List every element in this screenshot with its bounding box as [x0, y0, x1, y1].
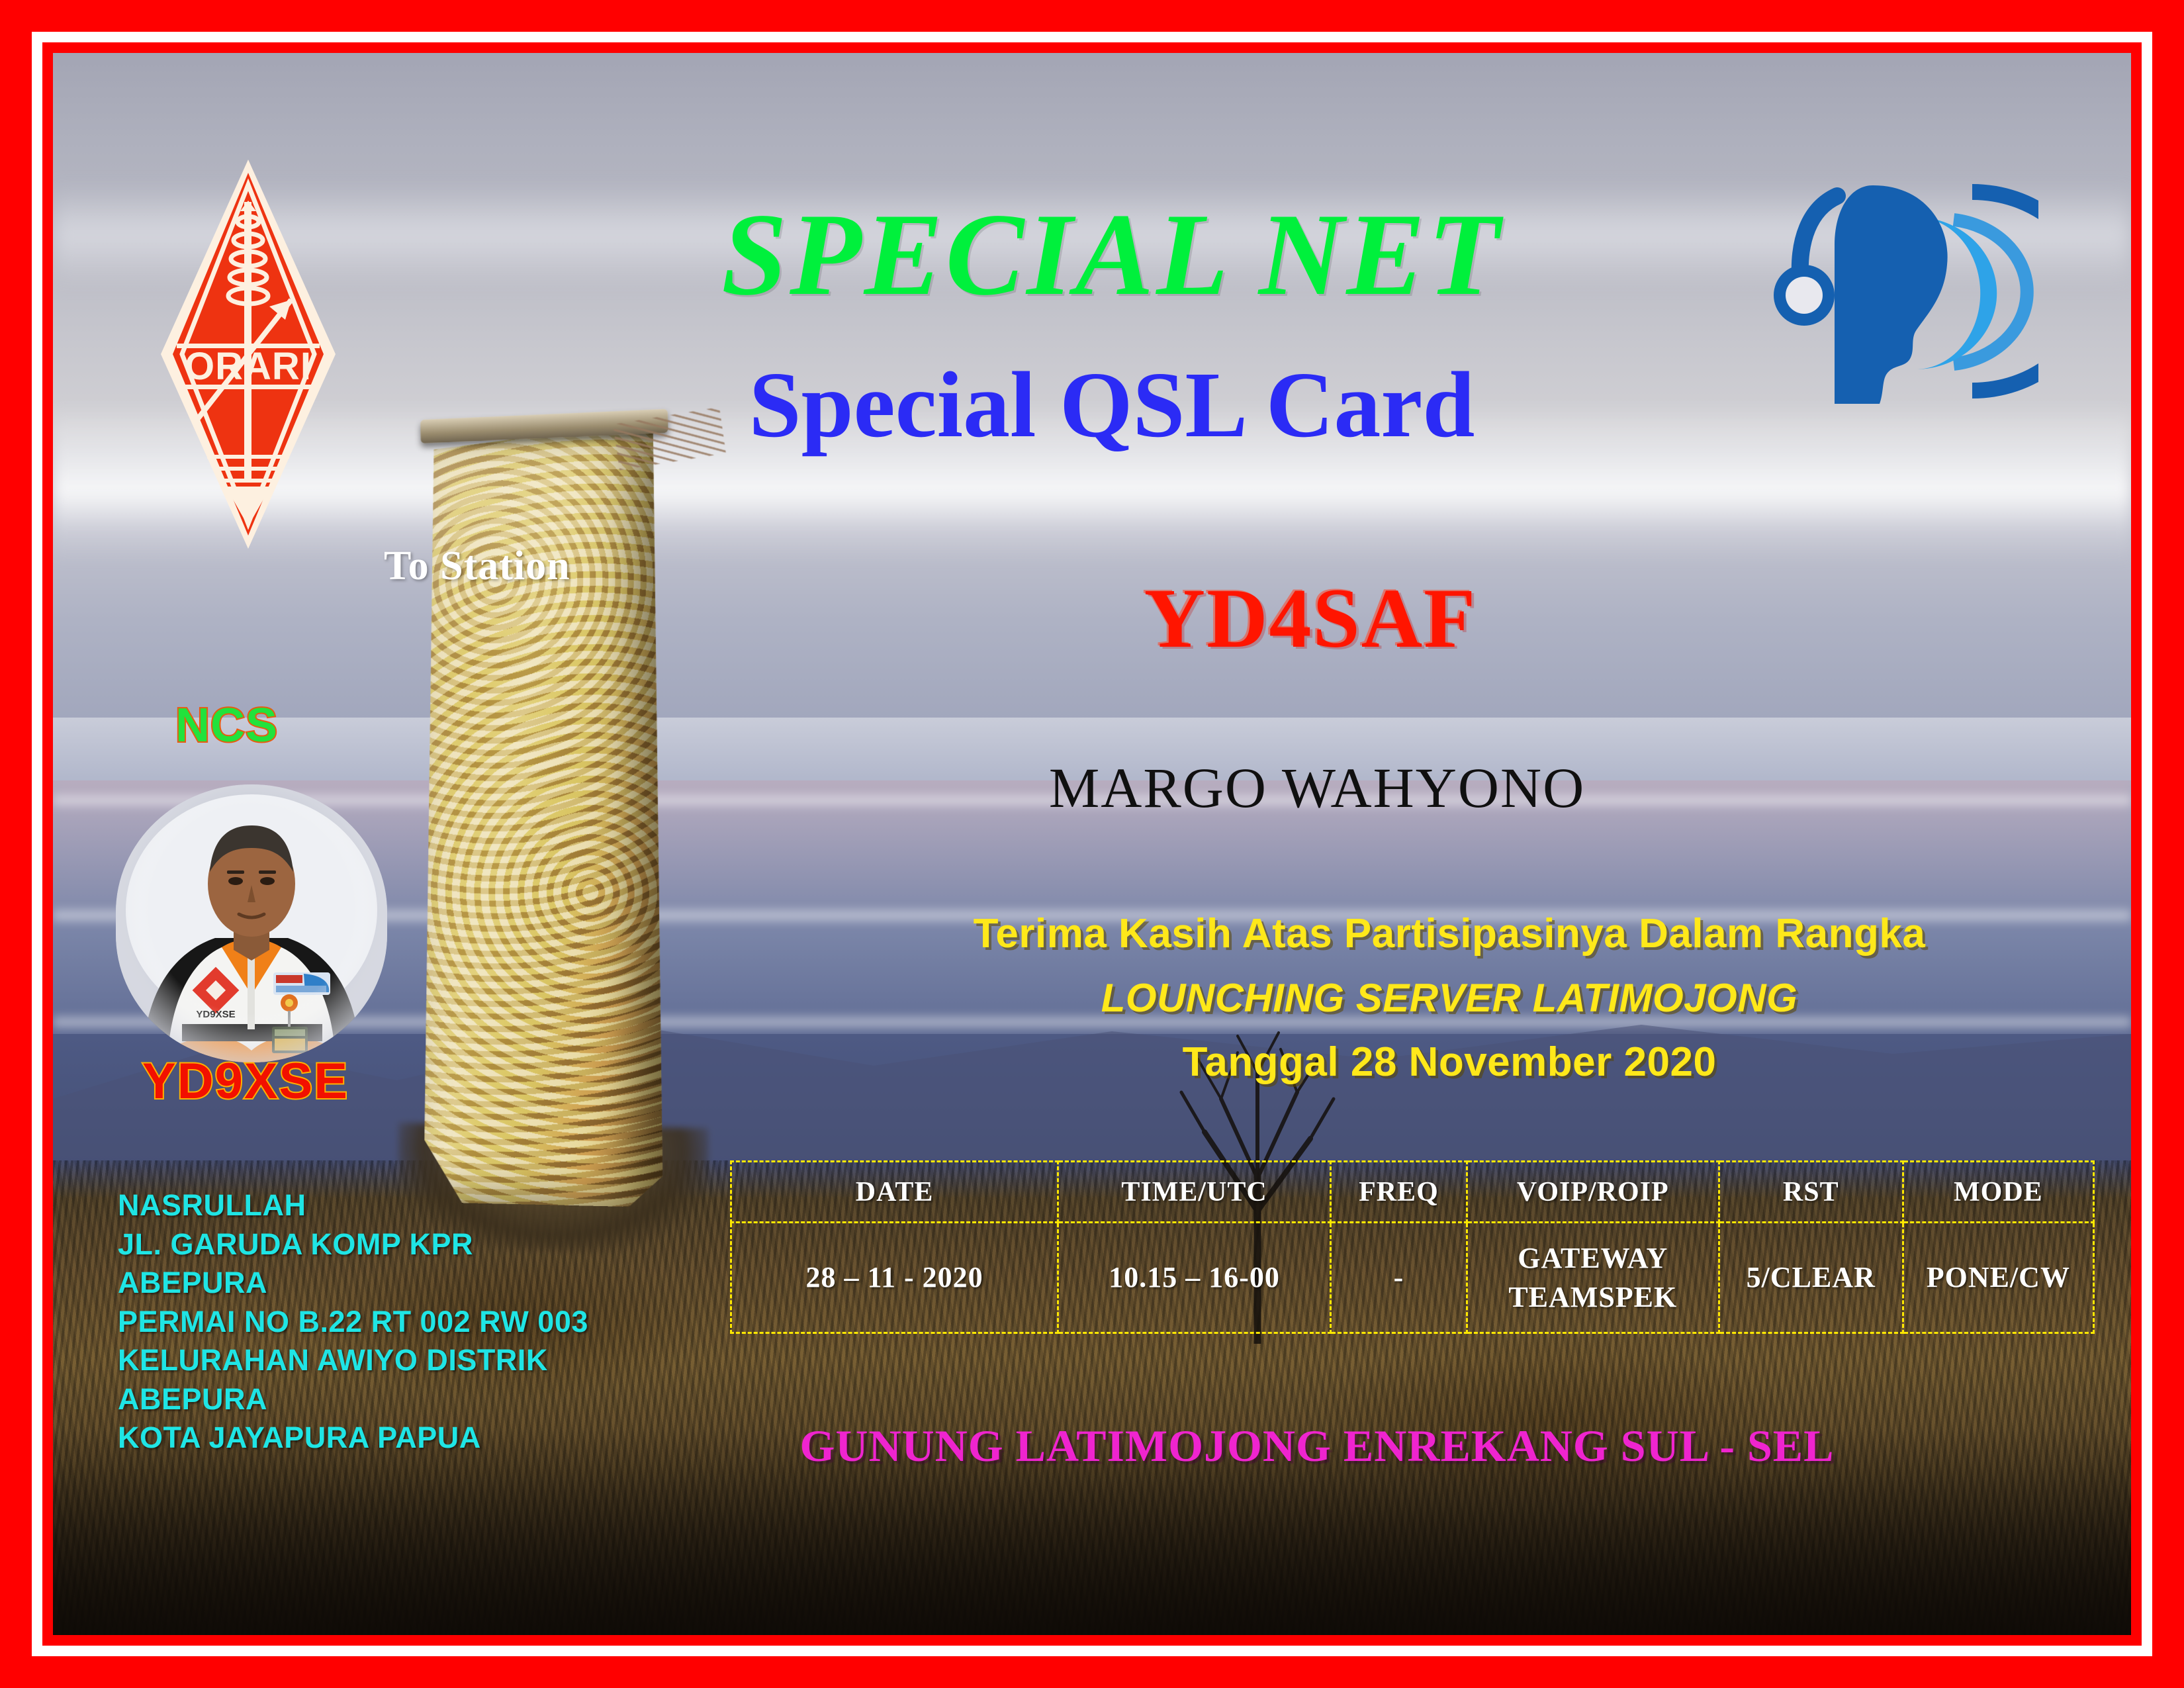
cell-date: 28 – 11 - 2020 — [731, 1223, 1058, 1333]
ncs-callsign: YD9XSE — [142, 1053, 349, 1110]
column-header-freq: FREQ — [1330, 1162, 1467, 1223]
orari-logo: ORARI — [156, 156, 341, 553]
cell-time: 10.15 – 16-00 — [1058, 1223, 1331, 1333]
table-row: 28 – 11 - 2020 10.15 – 16-00 - GATEWAY T… — [731, 1223, 2094, 1333]
station-callsign: YD4SAF — [1013, 576, 1608, 661]
background-photo: ORARI — [53, 53, 2131, 1635]
operator-name: MARGO WAHYONO — [880, 755, 1754, 821]
cell-voip: GATEWAY TEAMSPEK — [1467, 1223, 1719, 1333]
location-line: GUNUNG LATIMOJONG ENREKANG SUL - SEL — [688, 1420, 1946, 1472]
cell-rst: 5/CLEAR — [1719, 1223, 1903, 1333]
address-line: ABEPURA — [118, 1380, 588, 1419]
qso-log-table: DATE TIME/UTC FREQ VOIP/ROIP RST MODE 28… — [730, 1160, 2095, 1334]
column-header-voip: VOIP/ROIP — [1467, 1162, 1719, 1223]
column-header-mode: MODE — [1903, 1162, 2093, 1223]
address-line: NASRULLAH — [118, 1186, 588, 1225]
address-line: PERMAI NO B.22 RT 002 RW 003 — [118, 1303, 588, 1342]
thanks-block: Terima Kasih Atas Partisipasinya Dalam R… — [788, 914, 2111, 1083]
page-subtitle: Special QSL Card — [463, 357, 1760, 451]
column-header-rst: RST — [1719, 1162, 1903, 1223]
cell-freq: - — [1330, 1223, 1467, 1333]
address-line: KOTA JAYAPURA PAPUA — [118, 1419, 588, 1458]
ncs-avatar: YD9XSE — [116, 784, 387, 1062]
column-header-date: DATE — [731, 1162, 1058, 1223]
thanks-line-3: Tanggal 28 November 2020 — [788, 1042, 2111, 1083]
address-line: ABEPURA — [118, 1264, 588, 1303]
ncs-label: NCS — [175, 698, 278, 753]
table-header-row: DATE TIME/UTC FREQ VOIP/ROIP RST MODE — [731, 1162, 2094, 1223]
thanks-line-2: LOUNCHING SERVER LATIMOJONG — [788, 978, 2111, 1018]
ncs-portrait-image: YD9XSE — [116, 784, 387, 1062]
radio-head-logo — [1774, 165, 2038, 417]
to-station-label: To Station — [384, 543, 570, 590]
thanks-line-1: Terima Kasih Atas Partisipasinya Dalam R… — [788, 914, 2111, 955]
svg-text:ORARI: ORARI — [185, 345, 312, 388]
column-header-time: TIME/UTC — [1058, 1162, 1331, 1223]
qsl-card: ORARI — [0, 0, 2184, 1688]
address-line: KELURAHAN AWIYO DISTRIK — [118, 1341, 588, 1380]
page-title: SPECIAL NET — [463, 195, 1760, 313]
address-block: NASRULLAH JL. GARUDA KOMP KPR ABEPURA PE… — [118, 1186, 588, 1458]
address-line: JL. GARUDA KOMP KPR — [118, 1225, 588, 1264]
stone-monument — [424, 421, 662, 1207]
cell-mode: PONE/CW — [1903, 1223, 2093, 1333]
